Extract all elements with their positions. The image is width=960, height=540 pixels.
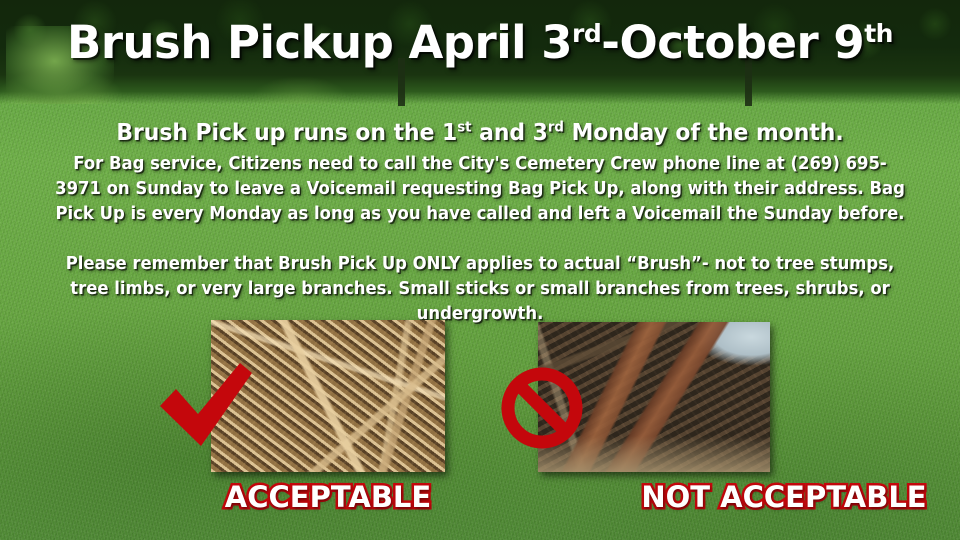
title-ordinal-th: th — [864, 19, 893, 48]
lead-part-1: Brush Pick up runs on the 1 — [116, 120, 457, 146]
body-copy-block: Brush Pick up runs on the 1st and 3rd Mo… — [0, 118, 960, 327]
lead-part-3: Monday of the month. — [564, 120, 844, 146]
brush-definition-paragraph: Please remember that Brush Pick Up ONLY … — [29, 252, 931, 327]
lead-ordinal-st: st — [457, 119, 471, 135]
schedule-lead-line: Brush Pick up runs on the 1st and 3rd Mo… — [24, 118, 936, 148]
lead-part-2: and 3 — [471, 120, 547, 146]
brush-pickup-poster: Brush Pickup April 3rd-October 9th Brush… — [0, 0, 960, 540]
lead-ordinal-rd: rd — [548, 119, 564, 135]
check-mark-icon — [158, 362, 254, 448]
title-ordinal-rd: rd — [572, 19, 601, 48]
bag-service-paragraph: For Bag service, Citizens need to call t… — [29, 152, 931, 227]
page-title: Brush Pickup April 3rd-October 9th — [0, 18, 960, 68]
caption-not-acceptable: NOT ACCEPTABLE — [304, 480, 960, 514]
prohibition-icon — [500, 366, 584, 450]
title-text-part-2: -October 9 — [601, 16, 864, 69]
title-text-part-1: Brush Pickup April 3 — [67, 16, 572, 69]
